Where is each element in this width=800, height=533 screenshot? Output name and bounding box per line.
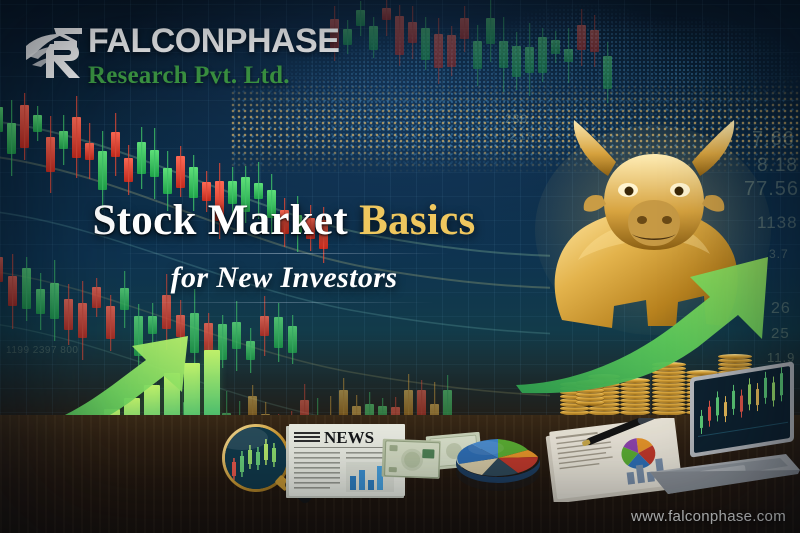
falcon-monogram-icon — [24, 24, 86, 80]
subtitle-divider — [134, 302, 434, 303]
title-accent: Basics — [359, 197, 475, 244]
title-main: Stock Market — [92, 197, 348, 244]
laptop-icon — [638, 362, 800, 502]
svg-text:NEWS: NEWS — [324, 428, 374, 447]
pie-chart-3d-icon — [452, 424, 544, 498]
brand-subtitle: Research Pvt. Ltd. — [88, 61, 339, 91]
brand-logo[interactable]: FALCONPHASE Research Pvt. Ltd. — [24, 22, 374, 100]
page-title: Stock Market Basics — [0, 196, 568, 246]
brand-name: FALCONPHASE — [88, 22, 339, 60]
website-url[interactable]: www.falconphase.com — [631, 508, 786, 525]
headline-block: Stock Market Basics for New Investors — [0, 186, 568, 317]
title-divider — [119, 253, 449, 254]
page-subtitle: for New Investors — [0, 260, 568, 296]
stock-market-banner: 7.668.1877.5611382302.17262511.93.71199 … — [0, 0, 800, 533]
brand-wordmark: FALCONPHASE Research Pvt. Ltd. — [88, 22, 339, 91]
